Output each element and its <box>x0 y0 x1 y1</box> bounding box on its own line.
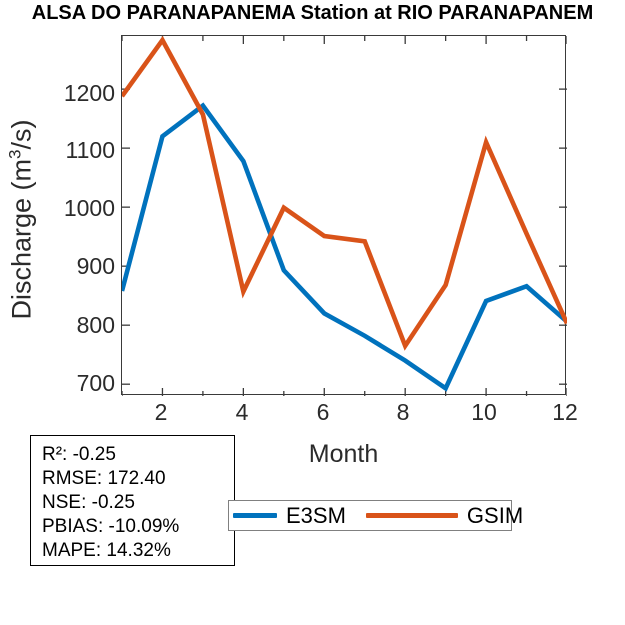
legend-label-e3sm: E3SM <box>286 505 346 527</box>
x-tick-2: 2 <box>131 399 191 425</box>
y-axis-label-suffix: /s) <box>7 120 37 150</box>
legend-item-e3sm[interactable]: E3SM <box>233 505 346 527</box>
y-tick-900: 900 <box>45 255 115 278</box>
y-axis-label-exponent: 3 <box>6 150 25 159</box>
stat-nse: NSE: -0.25 <box>42 491 234 515</box>
x-tick-4: 4 <box>212 399 272 425</box>
x-tick-10: 10 <box>454 399 514 425</box>
legend-swatch-gsim <box>366 513 458 518</box>
stat-pbias: PBIAS: -10.09% <box>42 515 234 539</box>
x-tick-6: 6 <box>293 399 353 425</box>
stat-rmse: RMSE: 172.40 <box>42 467 234 491</box>
stats-box: R²: -0.25 RMSE: 172.40 NSE: -0.25 PBIAS:… <box>30 435 235 566</box>
x-tick-8: 8 <box>373 399 433 425</box>
y-tick-800: 800 <box>45 314 115 337</box>
plot-svg <box>122 36 567 396</box>
y-tick-1200: 1200 <box>45 82 115 105</box>
stat-mape: MAPE: 14.32% <box>42 539 234 563</box>
plot-area <box>121 35 566 395</box>
legend-label-gsim: GSIM <box>467 505 523 527</box>
y-tick-1100: 1100 <box>45 139 115 162</box>
data-series-group <box>122 40 567 388</box>
y-tick-700: 700 <box>45 372 115 395</box>
legend-item-gsim[interactable]: GSIM <box>366 505 523 527</box>
figure-canvas: ALSA DO PARANAPANEMA Station at RIO PARA… <box>0 0 625 625</box>
legend[interactable]: E3SM GSIM <box>228 500 512 531</box>
line-gsim <box>122 40 567 346</box>
y-tick-1000: 1000 <box>45 197 115 220</box>
x-tick-12: 12 <box>535 399 595 425</box>
y-axis-label: Discharge (m3/s) <box>7 30 38 410</box>
stat-r2: R²: -0.25 <box>42 443 234 467</box>
line-e3sm <box>122 106 567 389</box>
legend-swatch-e3sm <box>233 513 277 518</box>
y-axis-label-prefix: Discharge (m <box>7 159 37 320</box>
